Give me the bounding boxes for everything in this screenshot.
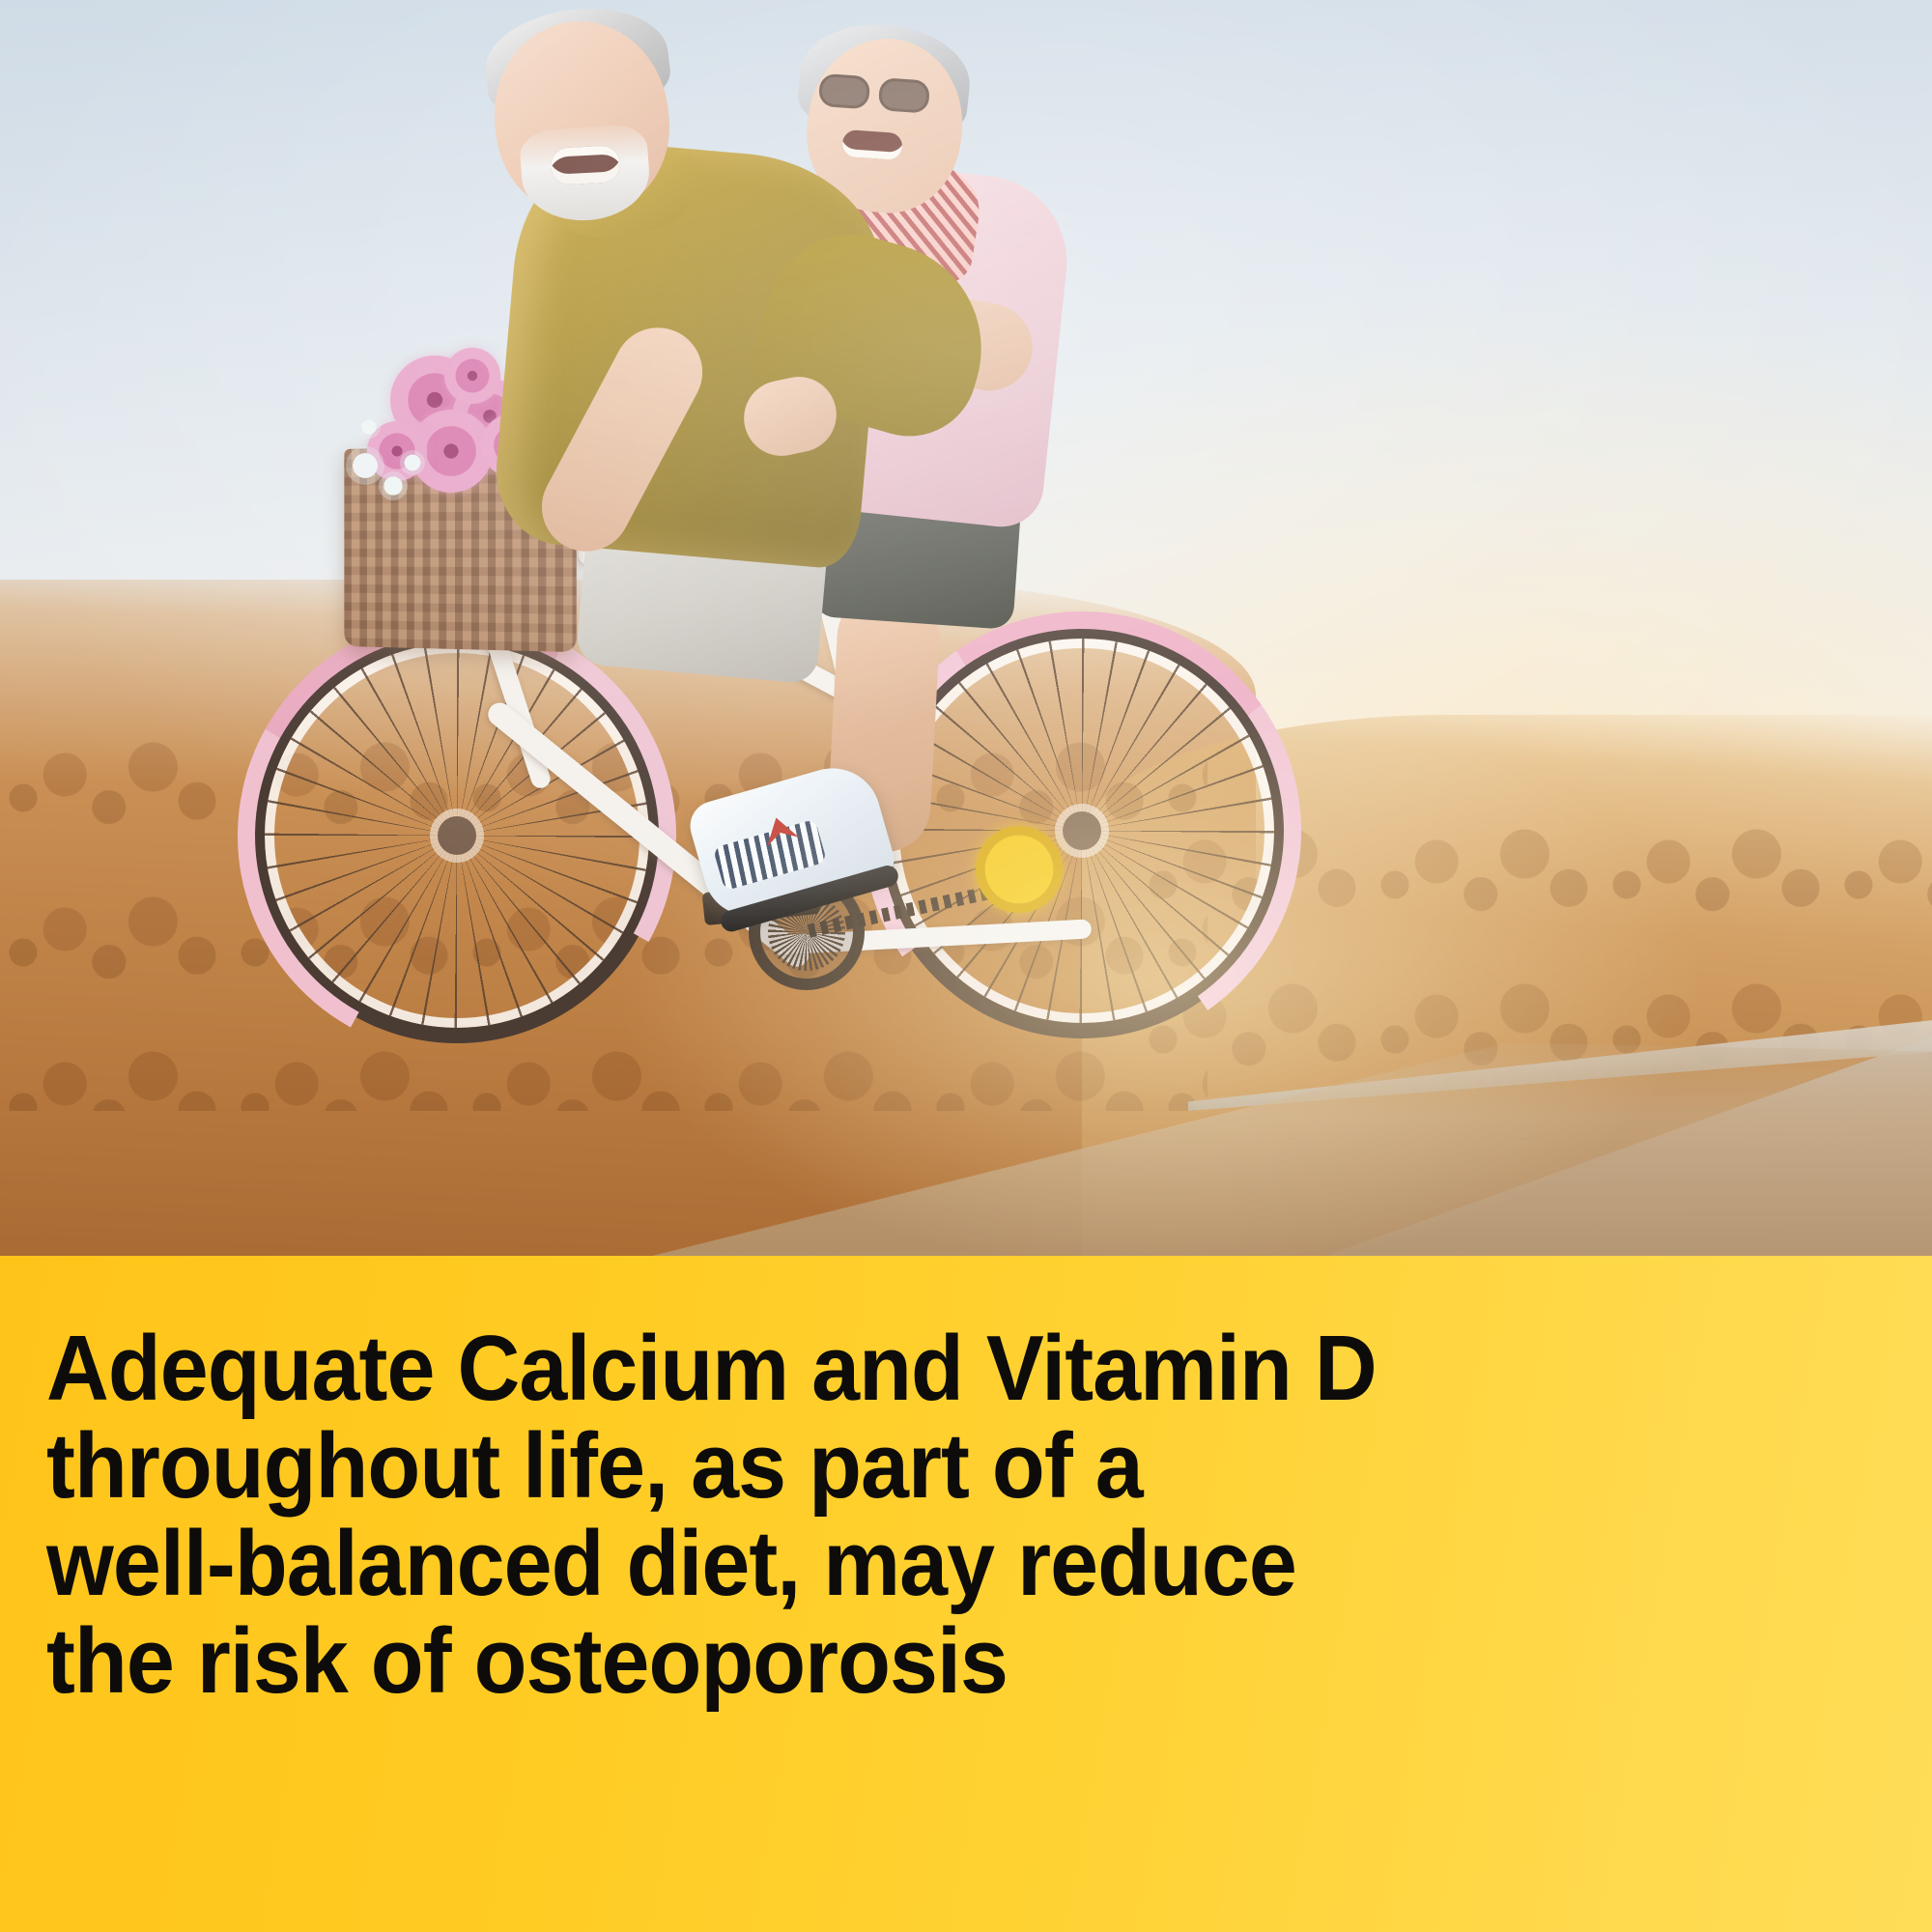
babys-breath: [346, 446, 384, 485]
woman-smile: [841, 129, 903, 160]
sunglasses-left-lens: [818, 73, 870, 110]
rear-gear-cog: [976, 826, 1063, 913]
flower-bloom: [444, 348, 500, 404]
caption-band: Adequate Calcium and Vitamin D throughou…: [0, 1256, 1932, 1932]
sunglasses-right-lens: [878, 77, 930, 114]
hero-photo: [0, 0, 1932, 1256]
babys-breath: [379, 471, 408, 500]
babys-breath: [400, 450, 425, 475]
poster-root: Adequate Calcium and Vitamin D throughou…: [0, 0, 1932, 1932]
man-leg: [0, 0, 119, 295]
man-smile: [550, 145, 621, 185]
health-claim-text: Adequate Calcium and Vitamin D throughou…: [46, 1320, 1763, 1710]
babys-breath: [357, 415, 381, 439]
